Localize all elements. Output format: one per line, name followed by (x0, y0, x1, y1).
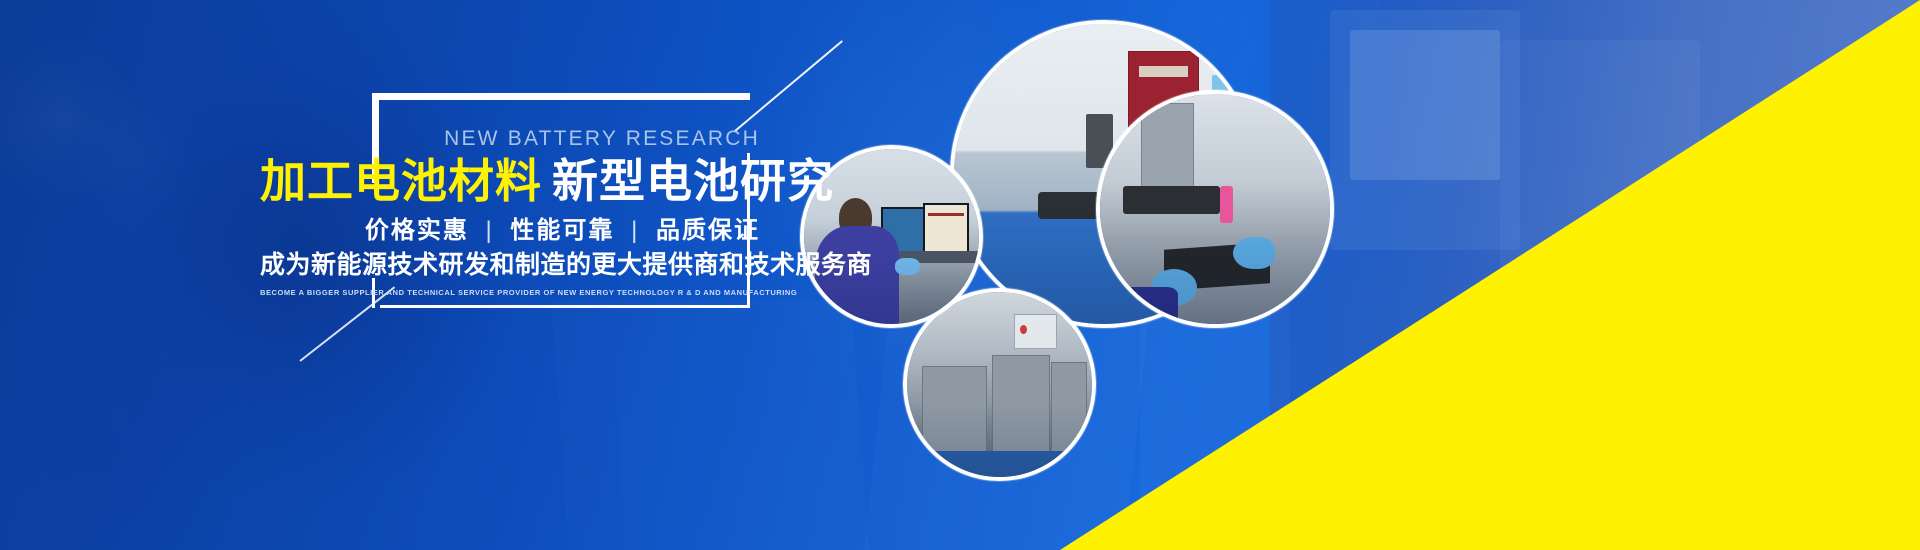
feature-item-price: 价格实惠 (365, 217, 469, 244)
feature-separator: | (631, 217, 639, 244)
feature-list: 价格实惠 | 性能可靠 | 品质保证 (260, 218, 760, 244)
feature-item-performance: 性能可靠 (510, 217, 614, 244)
eyebrow-text: NEW BATTERY RESEARCH (260, 128, 760, 149)
page-title: 加工电池材料新型电池研究 (260, 157, 760, 206)
tagline-chinese: 成为新能源技术研发和制造的更大提供商和技术服务商 (260, 252, 760, 280)
feature-separator: | (486, 217, 494, 244)
hero-banner: NEW BATTERY RESEARCH 加工电池材料新型电池研究 价格实惠 |… (0, 0, 1920, 550)
tagline-english: BECOME A BIGGER SUPPLIER AND TECHNICAL S… (260, 288, 760, 297)
photo-circle-electrode-press (1096, 90, 1334, 328)
banner-copy: NEW BATTERY RESEARCH 加工电池材料新型电池研究 价格实惠 |… (260, 128, 760, 297)
feature-item-quality: 品质保证 (656, 217, 760, 244)
headline-highlight: 加工电池材料 (260, 155, 542, 207)
headline-main: 新型电池研究 (552, 155, 834, 207)
